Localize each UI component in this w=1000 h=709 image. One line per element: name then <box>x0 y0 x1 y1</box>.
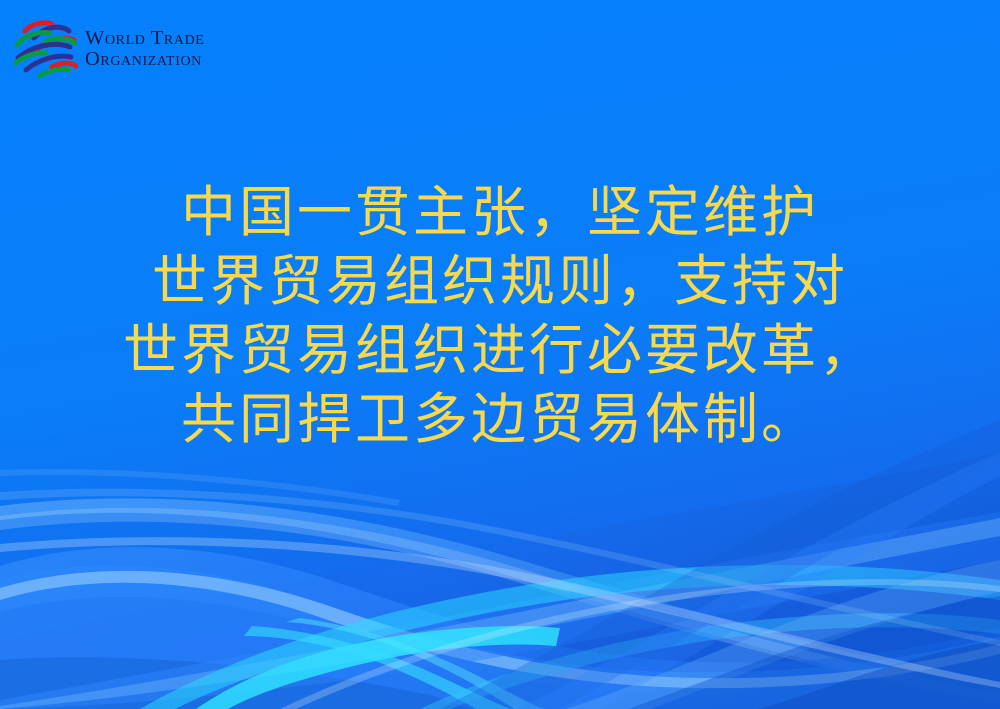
headline-line-3: 世界贸易组织进行必要改革， <box>0 316 1000 385</box>
headline-statement: 中国一贯主张，坚定维护 世界贸易组织规则，支持对 世界贸易组织进行必要改革， 共… <box>0 178 1000 454</box>
headline-line-2: 世界贸易组织规则，支持对 <box>0 247 1000 316</box>
wto-globe-icon <box>12 15 78 83</box>
headline-line-1: 中国一贯主张，坚定维护 <box>0 178 1000 247</box>
wto-logo-text: World Trade Organization <box>85 28 204 71</box>
headline-line-4: 共同捍卫多边贸易体制。 <box>0 385 1000 454</box>
wto-logo-line-world-trade: World Trade <box>85 28 204 49</box>
slide-canvas: World Trade Organization 中国一贯主张，坚定维护 世界贸… <box>0 0 1000 709</box>
wto-logo: World Trade Organization <box>8 10 223 88</box>
wto-logo-line-organization: Organization <box>85 49 204 70</box>
